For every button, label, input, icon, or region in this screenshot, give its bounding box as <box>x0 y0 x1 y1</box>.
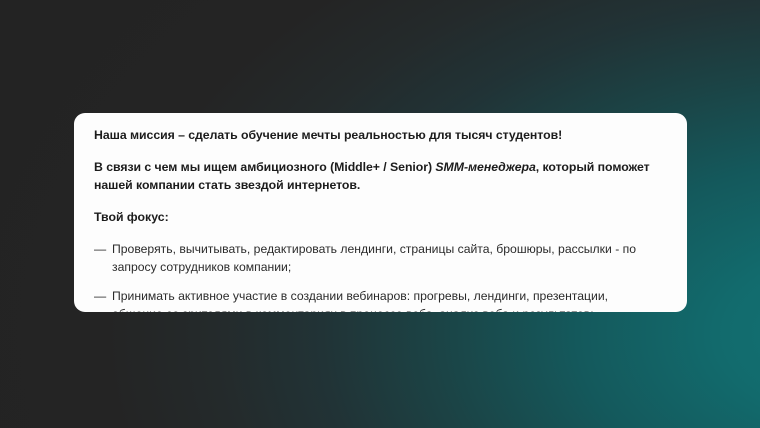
list-item-text: Принимать активное участие в создании ве… <box>112 287 661 312</box>
page-background: Наша миссия – сделать обучение мечты реа… <box>0 0 760 428</box>
list-item: — Проверять, вычитывать, редактировать л… <box>94 240 661 277</box>
job-description-card: Наша миссия – сделать обучение мечты реа… <box>74 113 687 312</box>
em-dash-icon: — <box>94 240 112 259</box>
list-item: — Принимать активное участие в создании … <box>94 287 661 312</box>
focus-heading: Твой фокус: <box>94 209 661 226</box>
mission-statement: Наша миссия – сделать обучение мечты реа… <box>94 127 661 144</box>
vacancy-role-emphasis: SMM-менеджера <box>435 160 535 174</box>
list-item-text: Проверять, вычитывать, редактировать лен… <box>112 240 661 277</box>
vacancy-text-before: В связи с чем мы ищем амбициозного (Midd… <box>94 160 435 174</box>
em-dash-icon: — <box>94 287 112 306</box>
vacancy-statement: В связи с чем мы ищем амбициозного (Midd… <box>94 159 661 194</box>
focus-list: — Проверять, вычитывать, редактировать л… <box>94 240 661 312</box>
